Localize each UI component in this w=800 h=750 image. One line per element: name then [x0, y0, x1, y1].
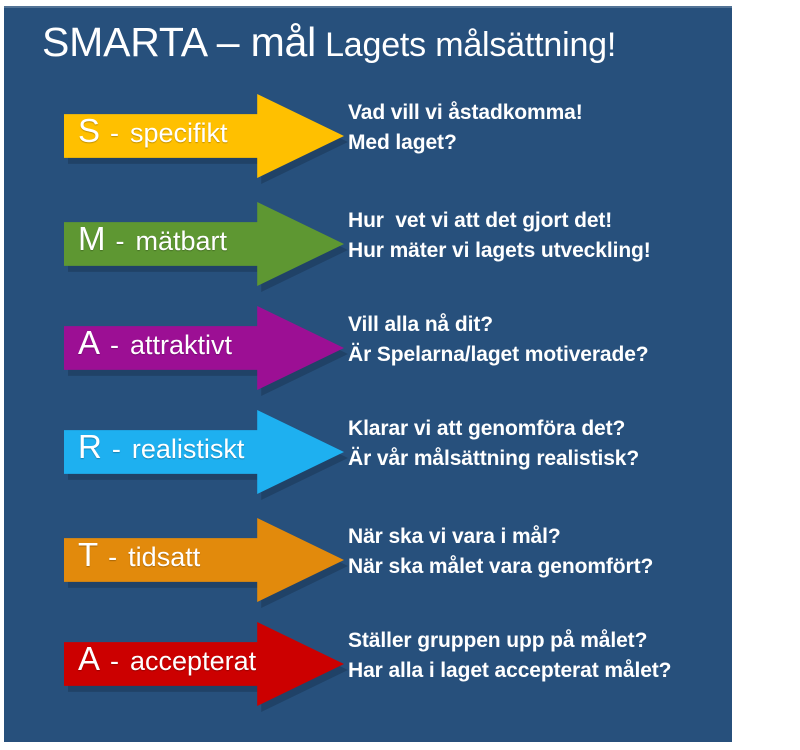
- arrow-word: tidsatt: [128, 544, 200, 571]
- arrow-dash: -: [116, 228, 125, 255]
- arrow-label: M-mätbart: [78, 222, 227, 266]
- arrow-dash: -: [110, 332, 119, 359]
- arrow-realistiskt[interactable]: R-realistiskt: [64, 410, 344, 494]
- arrow-label: R-realistiskt: [78, 430, 244, 474]
- arrow-label: T-tidsatt: [78, 538, 200, 582]
- question-line: Vad vill vi åstadkomma!: [348, 98, 732, 128]
- question-line: Är Spelarna/laget motiverade?: [348, 340, 732, 370]
- arrow-letter: R: [78, 430, 102, 463]
- questions-attraktivt: Vill alla nå dit?Är Spelarna/laget motiv…: [348, 310, 732, 370]
- arrow-attraktivt[interactable]: A-attraktivt: [64, 306, 344, 390]
- arrow-label: A-attraktivt: [78, 326, 232, 370]
- arrow-letter: S: [78, 114, 100, 147]
- question-line: Klarar vi att genomföra det?: [348, 414, 732, 444]
- question-line: Ställer gruppen upp på målet?: [348, 626, 732, 656]
- arrow-tidsatt[interactable]: T-tidsatt: [64, 518, 344, 602]
- smarta-row-mätbart: M-mätbartHur vet vi att det gjort det!Hu…: [4, 202, 732, 310]
- arrow-dash: -: [108, 544, 117, 571]
- question-line: Har alla i laget accepterat målet?: [348, 656, 732, 686]
- questions-mätbart: Hur vet vi att det gjort det!Hur mäter v…: [348, 206, 732, 266]
- arrow-word: mätbart: [136, 228, 228, 255]
- questions-tidsatt: När ska vi vara i mål?När ska målet vara…: [348, 522, 732, 582]
- arrow-word: accepterat: [130, 648, 256, 675]
- arrow-letter: A: [78, 326, 100, 359]
- arrow-word: attraktivt: [130, 332, 232, 359]
- question-line: Vill alla nå dit?: [348, 310, 732, 340]
- question-line: När ska målet vara genomfört?: [348, 552, 732, 582]
- question-line: När ska vi vara i mål?: [348, 522, 732, 552]
- smarta-goals-slide: SMARTA – mål Lagets målsättning! S-speci…: [0, 0, 800, 750]
- questions-specifikt: Vad vill vi åstadkomma!Med laget?: [348, 98, 732, 158]
- title-sub: Lagets målsättning!: [325, 28, 616, 62]
- question-line: Hur vet vi att det gjort det!: [348, 206, 732, 236]
- question-line: Hur mäter vi lagets utveckling!: [348, 236, 732, 266]
- arrow-letter: T: [78, 538, 98, 571]
- smarta-row-tidsatt: T-tidsattNär ska vi vara i mål?När ska m…: [4, 518, 732, 626]
- arrow-word: specifikt: [130, 120, 228, 147]
- smarta-row-realistiskt: R-realistisktKlarar vi att genomföra det…: [4, 410, 732, 518]
- arrow-word: realistiskt: [132, 436, 245, 463]
- questions-realistiskt: Klarar vi att genomföra det?Är vår målsä…: [348, 414, 732, 474]
- arrow-dash: -: [110, 120, 119, 147]
- arrow-dash: -: [112, 436, 121, 463]
- smarta-row-specifikt: S-specifiktVad vill vi åstadkomma!Med la…: [4, 94, 732, 202]
- arrow-mätbart[interactable]: M-mätbart: [64, 202, 344, 286]
- question-line: Med laget?: [348, 128, 732, 158]
- smarta-row-accepterat: A-accepteratStäller gruppen upp på målet…: [4, 622, 732, 730]
- arrow-label: A-accepterat: [78, 642, 256, 686]
- title-main: SMARTA – mål: [42, 22, 316, 63]
- arrow-accepterat[interactable]: A-accepterat: [64, 622, 344, 706]
- arrow-letter: A: [78, 642, 100, 675]
- question-line: Är vår målsättning realistisk?: [348, 444, 732, 474]
- smarta-row-attraktivt: A-attraktivtVill alla nå dit?Är Spelarna…: [4, 306, 732, 414]
- questions-accepterat: Ställer gruppen upp på målet?Har alla i …: [348, 626, 732, 686]
- arrow-label: S-specifikt: [78, 114, 228, 158]
- arrow-letter: M: [78, 222, 106, 255]
- arrow-specifikt[interactable]: S-specifikt: [64, 94, 344, 178]
- page-title: SMARTA – mål Lagets målsättning!: [42, 22, 616, 78]
- arrow-dash: -: [110, 648, 119, 675]
- slide-panel: SMARTA – mål Lagets målsättning! S-speci…: [4, 6, 732, 742]
